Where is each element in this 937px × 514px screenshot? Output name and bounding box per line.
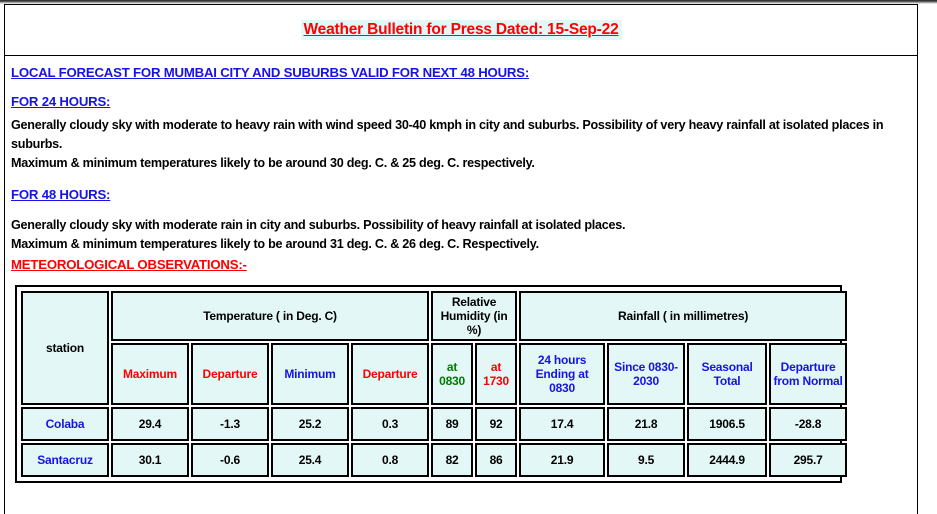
cell-rainfall-since: 9.5 [607,443,685,477]
forecast-48h-line-1: Generally cloudy sky with moderate rain … [11,216,907,235]
spacer [11,202,907,216]
subheader-departure-from-normal: Departure from Normal [769,343,847,405]
subheader-min-temperature: Minimum [271,343,349,405]
cell-max-temperature: 29.4 [111,407,189,441]
observations-table: station Temperature ( in Deg. C) Relativ… [19,289,849,479]
forecast-24h-heading: FOR 24 HOURS: [11,94,907,109]
subheader-max-departure: Departure [191,343,269,405]
cell-departure-from-normal: -28.8 [769,407,847,441]
forecast-48h-heading: FOR 48 HOURS: [11,187,907,202]
subheader-max-temperature: Maximum [111,343,189,405]
cell-rainfall-24-hours: 21.9 [519,443,605,477]
station-column-header: station [21,291,109,405]
cell-station: Colaba [21,407,109,441]
cell-seasonal-total: 1906.5 [687,407,767,441]
page-title: Weather Bulletin for Press Dated: 15-Sep… [301,20,622,40]
document-body: LOCAL FORECAST FOR MUMBAI CITY AND SUBUR… [5,56,917,483]
cell-humidity-0830: 82 [431,443,473,477]
subheader-rainfall-24-hours: 24 hours Ending at 0830 [519,343,605,405]
cell-departure-from-normal: 295.7 [769,443,847,477]
cell-humidity-0830: 89 [431,407,473,441]
cell-humidity-1730: 92 [475,407,517,441]
cell-max-departure: -0.6 [191,443,269,477]
cell-station: Santacruz [21,443,109,477]
spacer [11,173,907,187]
cell-min-temperature: 25.2 [271,407,349,441]
title-band: Weather Bulletin for Press Dated: 15-Sep… [5,5,917,56]
subheader-humidity-1730: at 1730 [475,343,517,405]
table-row: Colaba 29.4 -1.3 25.2 0.3 89 92 17.4 21.… [21,407,847,441]
subheader-rainfall-since: Since 0830-2030 [607,343,685,405]
cell-max-departure: -1.3 [191,407,269,441]
group-header-temperature: Temperature ( in Deg. C) [111,291,429,341]
subheader-humidity-0830: at 0830 [431,343,473,405]
table-group-header-row: station Temperature ( in Deg. C) Relativ… [21,291,847,341]
cell-seasonal-total: 2444.9 [687,443,767,477]
spacer [11,80,907,94]
observations-table-wrap: station Temperature ( in Deg. C) Relativ… [15,285,842,483]
cell-max-temperature: 30.1 [111,443,189,477]
forecast-24h-line-1: Generally cloudy sky with moderate to he… [11,116,907,154]
local-forecast-heading: LOCAL FORECAST FOR MUMBAI CITY AND SUBUR… [11,65,907,80]
cell-min-temperature: 25.4 [271,443,349,477]
group-header-rainfall: Rainfall ( in millimetres) [519,291,847,341]
subheader-min-departure: Departure [351,343,429,405]
table-row: Santacruz 30.1 -0.6 25.4 0.8 82 86 21.9 … [21,443,847,477]
forecast-24h-line-2: Maximum & minimum temperatures likely to… [11,154,907,173]
forecast-48h-line-2: Maximum & minimum temperatures likely to… [11,235,907,254]
cell-rainfall-24-hours: 17.4 [519,407,605,441]
subheader-seasonal-total: Seasonal Total [687,343,767,405]
cell-min-departure: 0.3 [351,407,429,441]
table-subheader-row: Maximum Departure Minimum Departure at 0… [21,343,847,405]
document-page: Weather Bulletin for Press Dated: 15-Sep… [4,4,918,514]
cell-rainfall-since: 21.8 [607,407,685,441]
spacer [11,109,907,116]
cell-min-departure: 0.8 [351,443,429,477]
group-header-relative-humidity: Relative Humidity (in %) [431,291,517,341]
cell-humidity-1730: 86 [475,443,517,477]
meteorological-observations-heading: METEOROLOGICAL OBSERVATIONS:- [11,257,907,272]
